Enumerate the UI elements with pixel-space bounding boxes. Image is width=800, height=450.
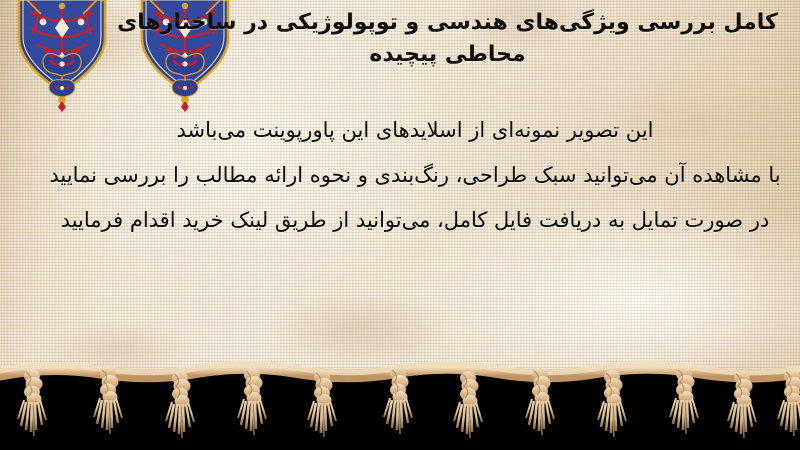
slide-body-line-3: در صورت تمایل به دریافت فایل کامل، می‌تو…: [40, 198, 790, 243]
presentation-slide: کامل بررسی ویژگی‌های هندسی و توپولوژیکی …: [0, 0, 800, 450]
slide-title: کامل بررسی ویژگی‌های هندسی و توپولوژیکی …: [100, 6, 795, 72]
slide-title-line-2: محاطی پیچیده: [100, 38, 795, 72]
slide-title-line-1: کامل بررسی ویژگی‌های هندسی و توپولوژیکی …: [100, 6, 795, 40]
bottom-black-band: [0, 372, 800, 450]
slide-body-line-1: این تصویر نمونه‌ای از اسلایدهای این پاور…: [40, 108, 790, 153]
slide-body: این تصویر نمونه‌ای از اسلایدهای این پاور…: [40, 108, 790, 243]
persian-medallion-pendant-left: [19, 0, 105, 112]
slide-body-line-2: با مشاهده آن می‌توانید سبک طراحی، رنگ‌بن…: [40, 153, 790, 198]
